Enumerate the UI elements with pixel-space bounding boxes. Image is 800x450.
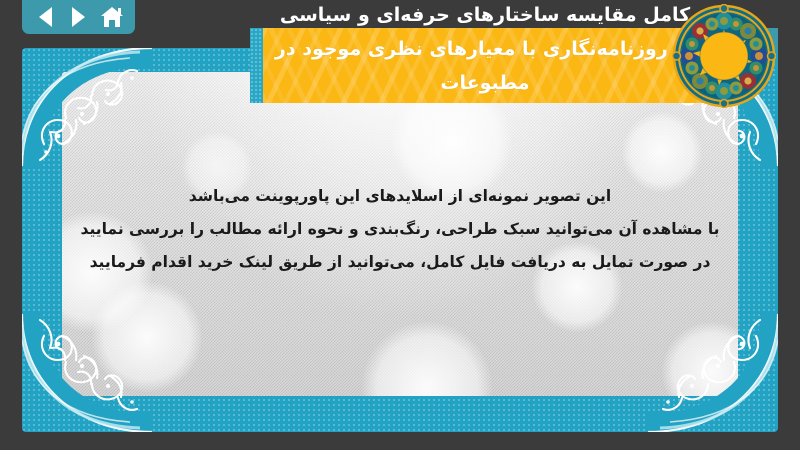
- slide-body-text: این تصویر نمونه‌ای از اسلایدهای این پاور…: [62, 180, 738, 279]
- navigation-bar: [22, 0, 135, 34]
- banner-accent-bar: [250, 28, 263, 103]
- prev-button[interactable]: [35, 6, 57, 28]
- next-button[interactable]: [68, 6, 90, 28]
- banner-plate: [263, 28, 720, 103]
- body-line-1: این تصویر نمونه‌ای از اسلایدهای این پاور…: [62, 180, 738, 213]
- home-icon: [101, 7, 123, 27]
- banner-chevron-pattern-alt: [263, 28, 720, 103]
- persian-medallion-ornament: [672, 4, 776, 108]
- title-backdrop-strip: [250, 0, 720, 28]
- body-line-3: در صورت تمایل به دریافت فایل کامل، می‌تو…: [62, 246, 738, 279]
- next-triangle-icon: [72, 7, 85, 27]
- title-banner: [250, 28, 720, 103]
- home-button[interactable]: [101, 6, 123, 28]
- prev-triangle-icon: [39, 7, 52, 27]
- bokeh-circle: [92, 282, 202, 392]
- body-line-2: با مشاهده آن می‌توانید سبک طراحی، رنگ‌بن…: [62, 213, 738, 246]
- slide-viewer: این تصویر نمونه‌ای از اسلایدهای این پاور…: [0, 0, 800, 450]
- slide-frame: این تصویر نمونه‌ای از اسلایدهای این پاور…: [22, 48, 778, 432]
